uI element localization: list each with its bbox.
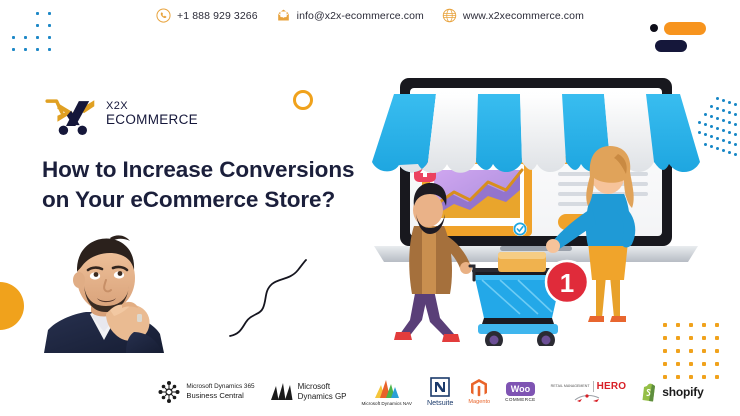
- partner-label-line1: RETAIL MANAGEMENT: [551, 385, 590, 389]
- partner-label-line2: COMMERCE: [505, 397, 536, 403]
- thinking-man-photo: [34, 228, 174, 353]
- partner-label: Netsuite: [427, 398, 453, 407]
- orange-ring-decoration: [293, 90, 313, 110]
- partner-label: shopify: [662, 385, 703, 400]
- partner-label-line2: Dynamics GP: [298, 392, 347, 402]
- cart-badge: 1: [546, 261, 588, 303]
- navy-pill-decoration: [655, 40, 687, 52]
- page-title-line2: on Your eCommerce Store?: [42, 185, 372, 215]
- partner-ms-dynamics-gp[interactable]: Microsoft Dynamics GP: [270, 381, 347, 403]
- orange-pill-decoration: [664, 22, 706, 35]
- dynamics-nav-chart-icon: [373, 378, 401, 400]
- black-squiggle-decoration: [228, 258, 308, 344]
- partner-logo-strip: Microsoft Dynamics 365 Business Central …: [0, 370, 740, 414]
- brand-logo-line2: ECOMMERCE: [106, 113, 198, 127]
- partner-ms-dynamics-nav[interactable]: Microsoft Dynamics NAV: [362, 378, 412, 407]
- landing-hero-banner: +1 888 929 3266 info@x2x-ecommerce.com w…: [0, 0, 740, 416]
- page-title-line1: How to Increase Conversions: [42, 155, 372, 185]
- brand-logo-line1: X2X: [106, 101, 198, 113]
- contact-website[interactable]: www.x2xecommerce.com: [442, 8, 584, 23]
- rm-hero-swoosh-icon: [573, 392, 603, 403]
- partner-netsuite[interactable]: Netsuite: [427, 377, 453, 407]
- orange-circle-decoration: [0, 282, 24, 330]
- partner-label-line1: Microsoft: [298, 382, 347, 392]
- contact-bar: +1 888 929 3266 info@x2x-ecommerce.com w…: [0, 8, 740, 23]
- globe-icon: [442, 8, 457, 23]
- shopping-cart: [470, 252, 562, 346]
- ecommerce-storefront-laptop-illustration: 1: [370, 66, 710, 346]
- x2x-cart-logo-icon: [44, 90, 100, 138]
- shopify-bag-icon: [641, 382, 658, 402]
- brand-logo[interactable]: X2X ECOMMERCE: [44, 90, 198, 138]
- partner-label: Microsoft Dynamics NAV: [362, 401, 412, 407]
- phone-icon: [156, 8, 171, 23]
- partner-woocommerce[interactable]: Woo COMMERCE: [505, 382, 536, 403]
- partner-shopify[interactable]: shopify: [641, 382, 703, 402]
- contact-website-text: www.x2xecommerce.com: [463, 10, 584, 22]
- brand-logo-wordmark: X2X ECOMMERCE: [106, 101, 198, 127]
- black-dot-decoration: [650, 24, 658, 32]
- partner-ms-dynamics-365-business-central[interactable]: Microsoft Dynamics 365 Business Central: [156, 380, 254, 404]
- dynamics-365-nodes-icon: [156, 380, 182, 404]
- partner-retail-management-hero[interactable]: RETAIL MANAGEMENT HERO: [551, 381, 627, 403]
- contact-phone-text: +1 888 929 3266: [177, 10, 258, 22]
- partner-label-line2: HERO: [597, 381, 627, 392]
- contact-phone[interactable]: +1 888 929 3266: [156, 8, 258, 23]
- contact-email[interactable]: info@x2x-ecommerce.com: [276, 8, 424, 23]
- partner-label-line1: Woo: [511, 384, 530, 394]
- envelope-icon: [276, 8, 291, 23]
- dynamics-gp-bars-icon: [270, 381, 294, 403]
- cart-badge-count: 1: [560, 268, 574, 298]
- magento-icon: [470, 378, 488, 398]
- partner-label-line2: Business Central: [186, 391, 254, 400]
- netsuite-n-icon: [430, 377, 450, 397]
- partner-label-line1: Microsoft Dynamics 365: [186, 383, 254, 391]
- partner-magento[interactable]: Magento: [468, 378, 490, 406]
- partner-label: Magento: [468, 399, 490, 406]
- page-title: How to Increase Conversions on Your eCom…: [42, 155, 372, 215]
- contact-email-text: info@x2x-ecommerce.com: [297, 10, 424, 22]
